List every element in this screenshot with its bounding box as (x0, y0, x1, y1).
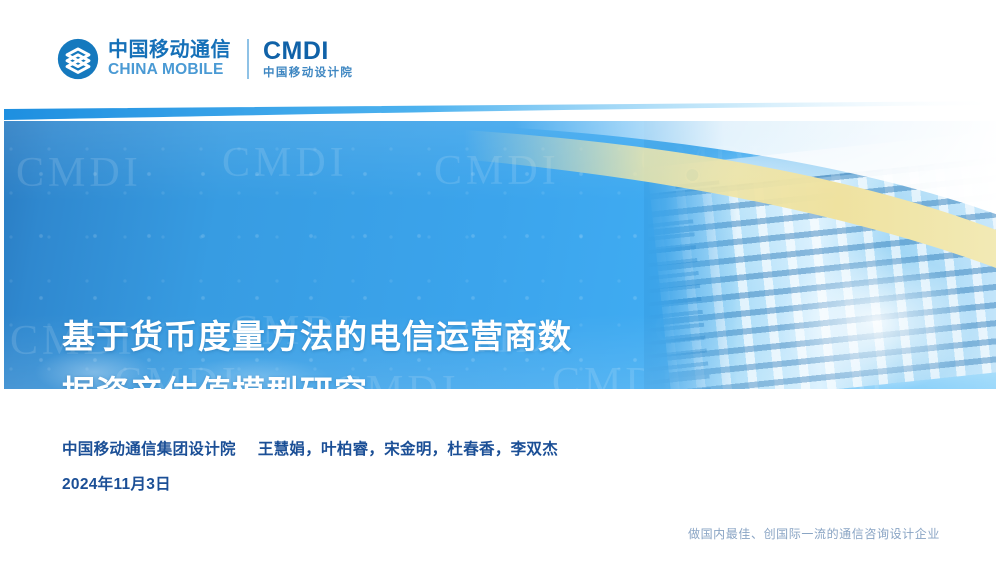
publication-date: 2024年11月3日 (62, 472, 171, 494)
china-mobile-wordmark: 中国移动通信 CHINA MOBILE (108, 40, 231, 78)
byline-affiliation: 中国移动通信集团设计院 (62, 441, 236, 458)
slide-header: 中国移动通信 CHINA MOBILE CMDI 中国移动设计院 (4, 4, 1000, 116)
byline-authors: 王慧娟，叶柏睿，宋金明，杜春香，李双杰 (258, 441, 558, 458)
lockup-divider (247, 39, 249, 79)
cmdi-name-cn: 中国移动设计院 (263, 68, 353, 80)
page-title-line-2: 据资产估值模型研究 (62, 365, 702, 389)
cmdi-wordmark: CMDI 中国移动设计院 (263, 39, 353, 80)
title-slide: 中国移动通信 CHINA MOBILE CMDI 中国移动设计院 C (0, 0, 1000, 566)
brand-lockup: 中国移动通信 CHINA MOBILE CMDI 中国移动设计院 (57, 32, 353, 86)
china-mobile-name-en: CHINA MOBILE (108, 62, 231, 78)
china-mobile-logo-mark (57, 38, 99, 80)
cmdi-watermark: CMDI (434, 147, 560, 195)
cmdi-watermark: CMDI (222, 139, 348, 187)
page-title-line-1: 基于货币度量方法的电信运营商数 (62, 309, 702, 365)
hero-banner: CMDICMDICMDICMDICMDICMDICMDICMDICMDICMDI… (4, 121, 1000, 389)
page-title: 基于货币度量方法的电信运营商数 据资产估值模型研究 (62, 309, 702, 389)
byline: 中国移动通信集团设计院王慧娟，叶柏睿，宋金明，杜春香，李双杰 (62, 437, 558, 459)
footer-slogan: 做国内最佳、创国际一流的通信咨询设计企业 (688, 525, 940, 542)
cmdi-watermark: CMDI (16, 149, 142, 197)
cmdi-name-en: CMDI (263, 39, 353, 64)
china-mobile-name-cn: 中国移动通信 (108, 40, 231, 60)
building-logo-icon (684, 166, 702, 184)
